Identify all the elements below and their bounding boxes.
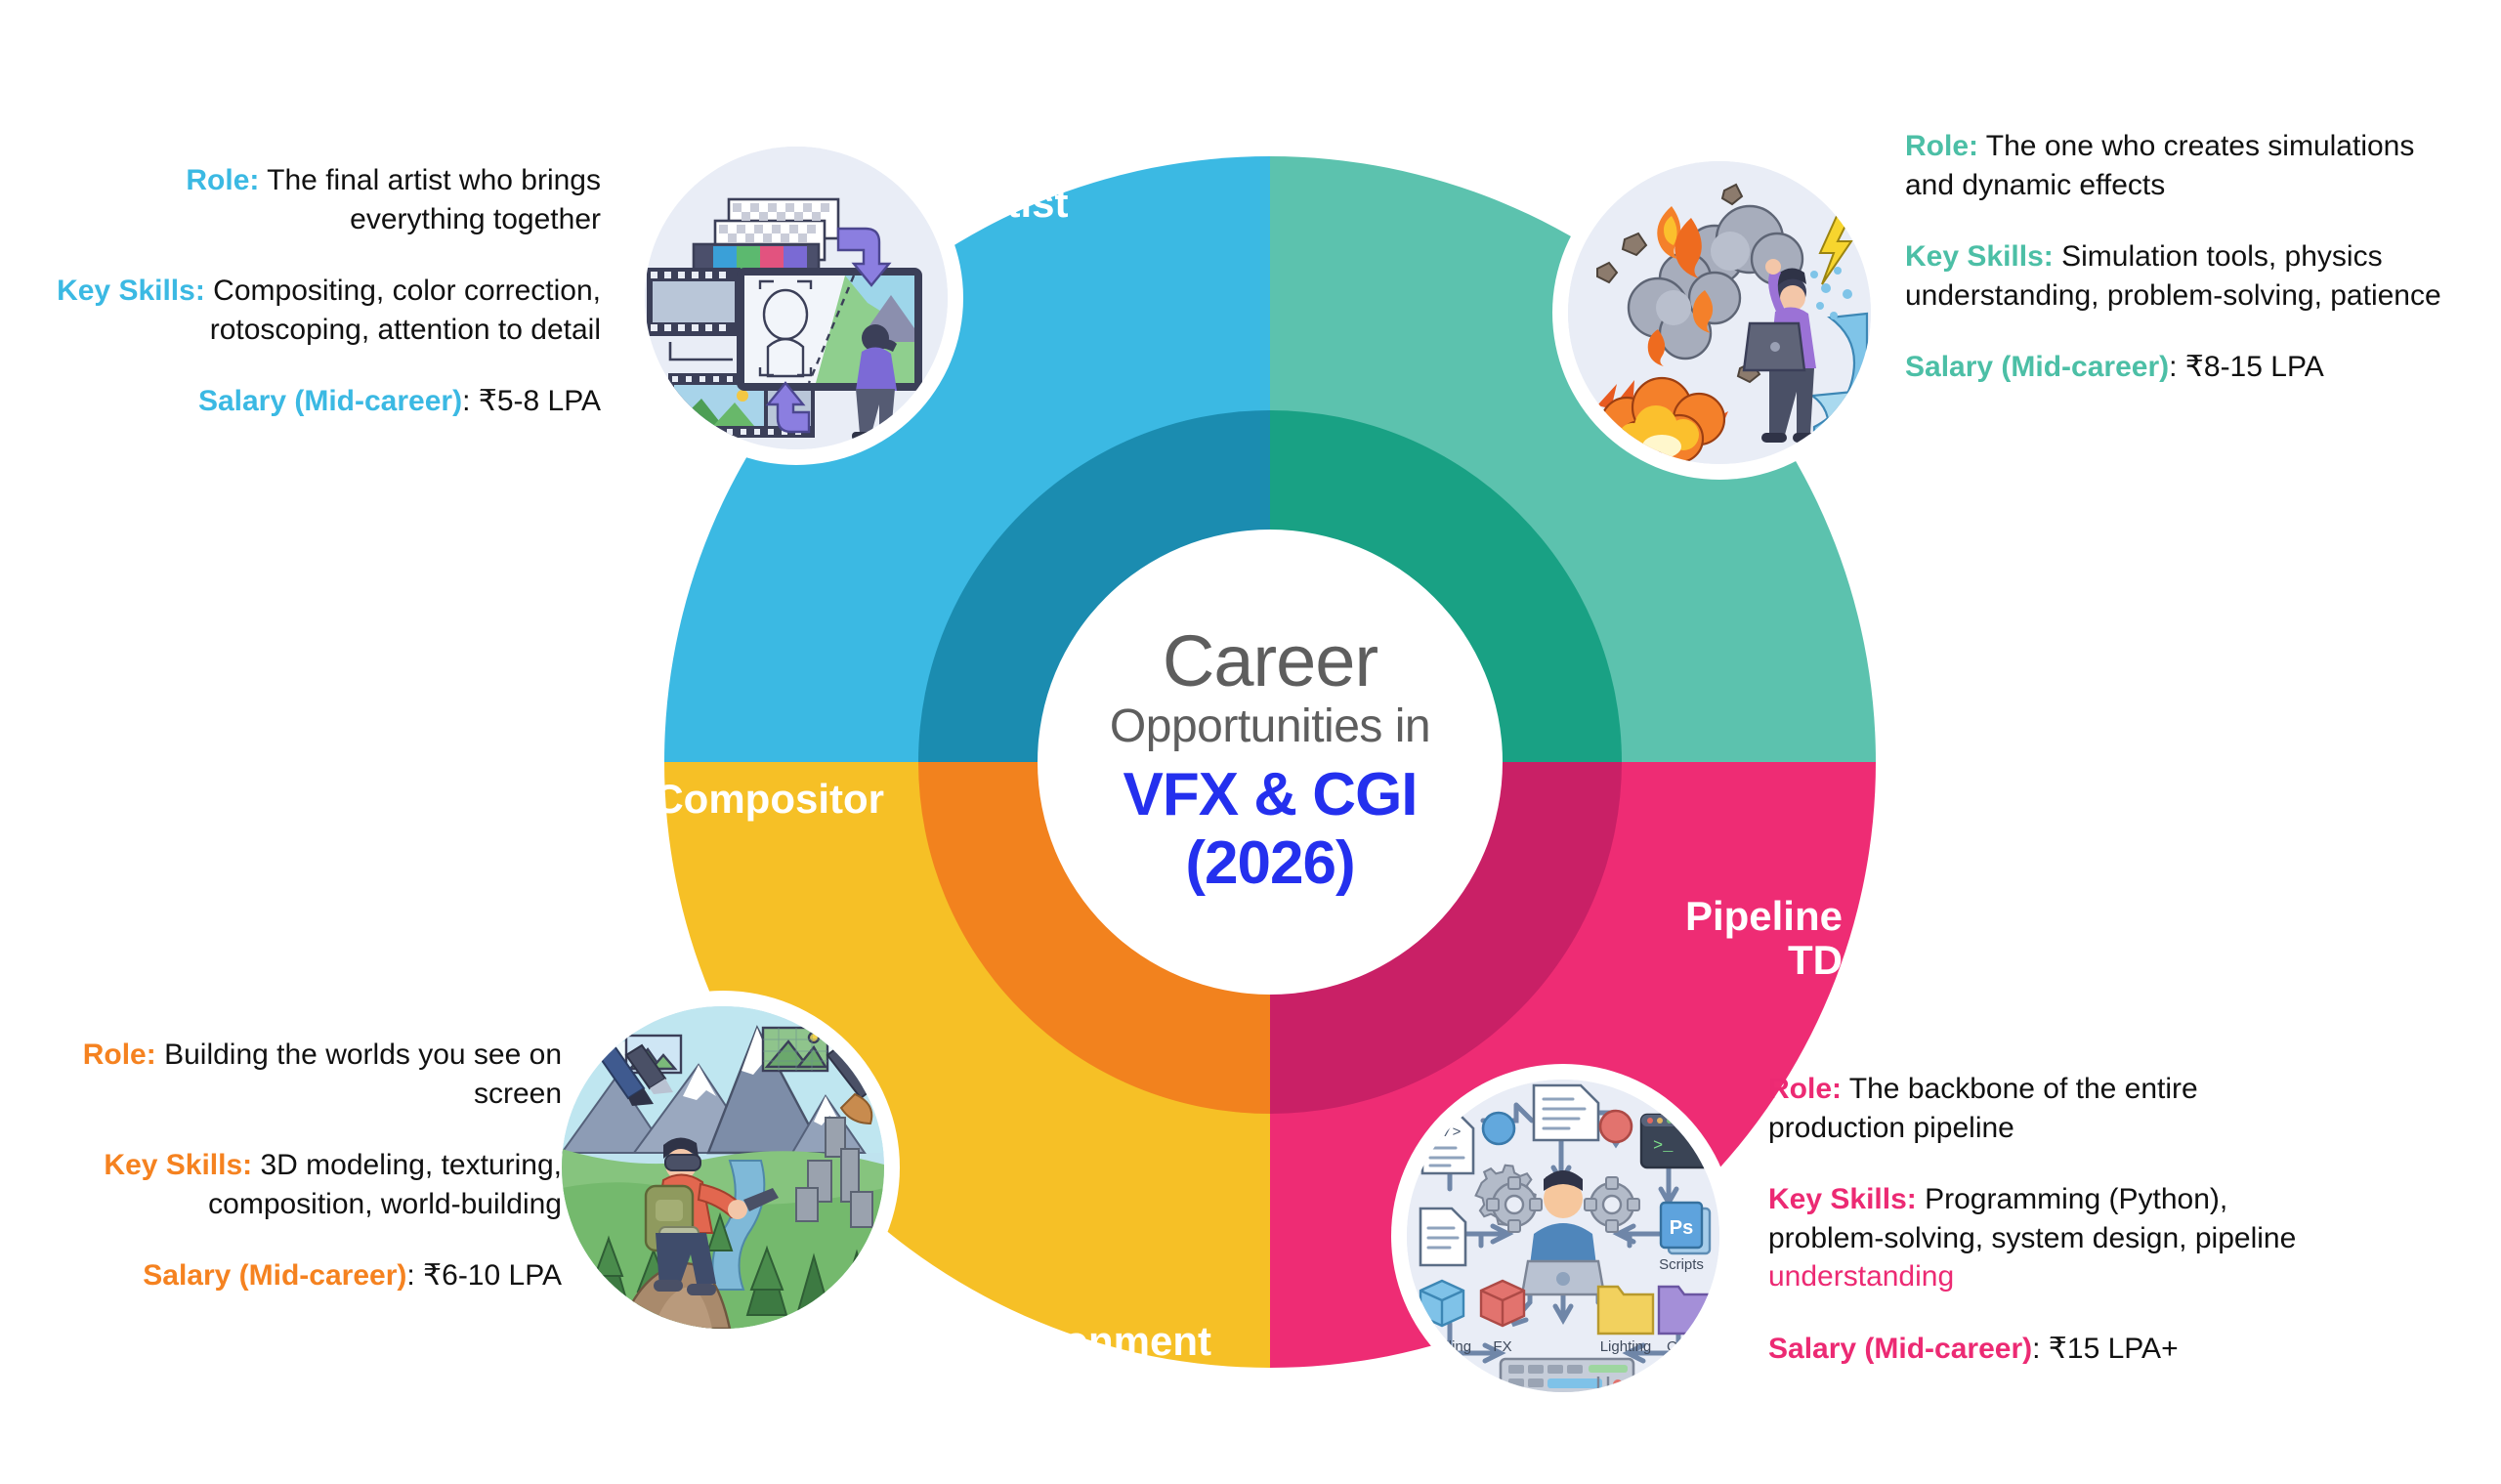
quadrant-label-environment-artist: Environment Artist	[889, 1319, 1211, 1408]
fx-artist-role-label: Role:	[1905, 130, 1978, 162]
fx-artist-skills: Key Skills: Simulation tools, physics un…	[1905, 237, 2452, 315]
center-title-career: Career	[1163, 627, 1378, 696]
fx-artist-details: Role: The one who creates simulations an…	[1905, 127, 2452, 387]
compositor-skills: Key Skills: Compositing, color correctio…	[54, 272, 601, 349]
quadrant-label-pipeline-td: Pipeline TD	[1608, 894, 1843, 983]
quadrant-label-pipeline-line1: Pipeline	[1608, 894, 1843, 938]
fx-artist-skills-label: Key Skills:	[1905, 240, 2054, 273]
fx-artist-salary-label: Salary (Mid-career)	[1905, 351, 2169, 383]
pipeline-td-details: Role: The backbone of the entire product…	[1768, 1070, 2315, 1369]
compositor-role-label: Role:	[186, 164, 259, 196]
fx-artist-salary: Salary (Mid-career): ₹8-15 LPA	[1905, 348, 2452, 387]
pipeline-illustration-label-lighting: Lighting	[1600, 1338, 1652, 1355]
pipeline-illustration-label-scripts: Scripts	[1659, 1256, 1704, 1273]
compositor-salary: Salary (Mid-career): ₹5-8 LPA	[54, 382, 601, 421]
center-title-year: (2026)	[1185, 829, 1354, 897]
environment-artist-role: Role: Building the worlds you see on scr…	[15, 1036, 562, 1113]
mountain-landscape-vr-icon	[562, 1006, 884, 1329]
pipeline-illustration-label-fx: FX	[1493, 1338, 1511, 1355]
environment-artist-details: Role: Building the worlds you see on scr…	[15, 1036, 562, 1295]
fx-artist-role: Role: The one who creates simulations an…	[1905, 127, 2452, 204]
fire-explosion-simulation-icon	[1568, 161, 1871, 464]
environment-artist-role-label: Role:	[83, 1039, 156, 1071]
environment-artist-salary: Salary (Mid-career): ₹6-10 LPA	[15, 1256, 562, 1295]
pipeline-td-salary: Salary (Mid-career): ₹15 LPA+	[1768, 1330, 2315, 1369]
environment-artist-skills: Key Skills: 3D modeling, texturing, comp…	[15, 1146, 562, 1223]
quadrant-label-pipeline-line2: TD	[1608, 938, 1843, 982]
quadrant-label-compositor: Compositor	[562, 777, 884, 821]
quadrant-label-environment-line1: Environment	[889, 1319, 1211, 1363]
quadrant-label-environment-line2: Artist	[889, 1363, 1211, 1407]
pipeline-td-salary-label: Salary (Mid-career)	[1768, 1333, 2032, 1365]
compositor-role-text: The final artist who brings everything t…	[267, 164, 601, 235]
svg-text:Ps: Ps	[1670, 1217, 1693, 1239]
pipeline-td-salary-text: : ₹15 LPA+	[2032, 1333, 2178, 1365]
pipeline-workflow-diagram-icon: </> >_	[1407, 1080, 1719, 1392]
pipeline-td-skills: Key Skills: Programming (Python), proble…	[1768, 1180, 2315, 1296]
quadrant-label-fx-artist: FX Artist	[899, 181, 1221, 225]
compositing-workstation-icon	[645, 147, 948, 449]
compositor-role: Role: The final artist who brings everyt…	[54, 161, 601, 238]
center-title-block: Career Opportunities in VFX & CGI (2026)	[1041, 533, 1499, 991]
pipeline-td-role-label: Role:	[1768, 1073, 1842, 1105]
center-title-opportunities: Opportunities in	[1110, 700, 1430, 753]
svg-text:>_: >_	[1653, 1137, 1674, 1156]
center-title-vfx-cgi: VFX & CGI	[1123, 761, 1417, 828]
environment-artist-skills-text: 3D modeling, texturing, composition, wor…	[208, 1149, 562, 1220]
fx-artist-role-text: The one who creates simulations and dyna…	[1905, 130, 2414, 201]
environment-artist-role-text: Building the worlds you see on screen	[164, 1039, 562, 1110]
environment-artist-salary-text: : ₹6-10 LPA	[406, 1259, 562, 1292]
compositor-details: Role: The final artist who brings everyt…	[54, 161, 601, 421]
compositor-salary-text: : ₹5-8 LPA	[462, 385, 601, 417]
pipeline-td-skills-label: Key Skills:	[1768, 1183, 1917, 1215]
environment-artist-salary-label: Salary (Mid-career)	[143, 1259, 406, 1292]
compositor-skills-label: Key Skills:	[57, 275, 205, 307]
pipeline-td-skills-highlight: understanding	[1768, 1260, 1954, 1293]
compositor-salary-label: Salary (Mid-career)	[198, 385, 462, 417]
compositor-skills-text: Compositing, color correction, rotoscopi…	[210, 275, 601, 346]
environment-artist-skills-label: Key Skills:	[104, 1149, 252, 1181]
pipeline-td-role: Role: The backbone of the entire product…	[1768, 1070, 2315, 1147]
infographic-canvas: Career Opportunities in VFX & CGI (2026)…	[0, 0, 2501, 1484]
fx-artist-salary-text: : ₹8-15 LPA	[2169, 351, 2324, 383]
